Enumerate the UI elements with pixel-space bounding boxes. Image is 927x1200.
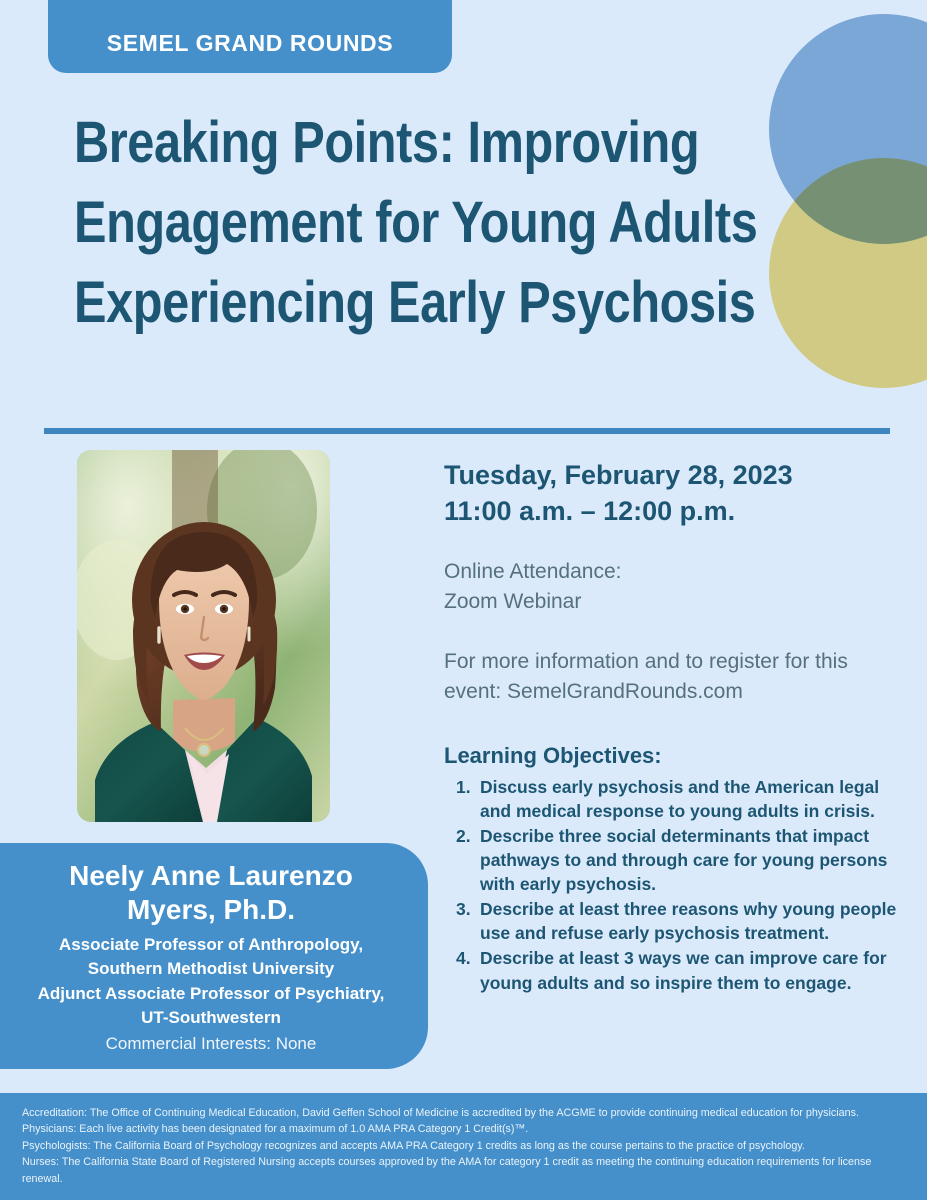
attendance-block: Online Attendance: Zoom Webinar (444, 557, 899, 617)
footer-accreditation: Accreditation: The Office of Continuing … (22, 1105, 874, 1121)
accreditation-footer: Accreditation: The Office of Continuing … (0, 1093, 927, 1200)
attendance-value: Zoom Webinar (444, 587, 899, 617)
speaker-photo (77, 450, 330, 822)
list-item: 2. Describe three social determinants th… (456, 824, 899, 896)
speaker-info-card: Neely Anne Laurenzo Myers, Ph.D. Associa… (0, 843, 428, 1069)
objective-number: 3. (456, 897, 480, 945)
registration-block: For more information and to register for… (444, 647, 899, 707)
event-flyer: SEMEL GRAND ROUNDS Breaking Points: Impr… (0, 0, 927, 1200)
objective-text: Discuss early psychosis and the American… (480, 775, 899, 823)
objective-number: 4. (456, 946, 480, 994)
event-date-block: Tuesday, February 28, 2023 11:00 a.m. – … (444, 458, 899, 529)
objective-number: 1. (456, 775, 480, 823)
footer-psychologists: Psychologists: The California Board of P… (22, 1138, 874, 1154)
footer-nurses: Nurses: The California State Board of Re… (22, 1154, 874, 1187)
objective-text: Describe at least 3 ways we can improve … (480, 946, 899, 994)
list-item: 1. Discuss early psychosis and the Ameri… (456, 775, 899, 823)
event-details: Tuesday, February 28, 2023 11:00 a.m. – … (444, 458, 899, 996)
event-date: Tuesday, February 28, 2023 (444, 458, 899, 494)
series-banner-label: SEMEL GRAND ROUNDS (107, 30, 393, 57)
speaker-affiliation-line-1: Associate Professor of Anthropology, (18, 933, 404, 957)
speaker-affiliation-line-2: Southern Methodist University (18, 957, 404, 981)
learning-objectives-heading: Learning Objectives: (444, 743, 899, 769)
objective-number: 2. (456, 824, 480, 896)
objective-text: Describe at least three reasons why youn… (480, 897, 899, 945)
registration-line-2[interactable]: event: SemelGrandRounds.com (444, 677, 899, 707)
list-item: 3. Describe at least three reasons why y… (456, 897, 899, 945)
series-banner: SEMEL GRAND ROUNDS (48, 0, 452, 73)
event-time: 11:00 a.m. – 12:00 p.m. (444, 494, 899, 530)
footer-physicians: Physicians: Each live activity has been … (22, 1121, 874, 1137)
title-line-2: Engagement for Young Adults (74, 183, 645, 263)
registration-line-1: For more information and to register for… (444, 647, 899, 677)
speaker-affiliation-line-4: UT-Southwestern (18, 1006, 404, 1030)
title-line-1: Breaking Points: Improving (74, 103, 645, 183)
objective-text: Describe three social determinants that … (480, 824, 899, 896)
title-line-3: Experiencing Early Psychosis (74, 263, 645, 343)
speaker-name: Neely Anne Laurenzo Myers, Ph.D. (18, 859, 404, 927)
attendance-label: Online Attendance: (444, 557, 899, 587)
section-divider (44, 428, 890, 434)
learning-objectives-list: 1. Discuss early psychosis and the Ameri… (444, 775, 899, 995)
page-title: Breaking Points: Improving Engagement fo… (74, 103, 754, 343)
speaker-headshot-image (77, 450, 330, 822)
list-item: 4. Describe at least 3 ways we can impro… (456, 946, 899, 994)
speaker-name-line-1: Neely Anne Laurenzo (18, 859, 404, 893)
speaker-name-line-2: Myers, Ph.D. (18, 893, 404, 927)
speaker-affiliation-line-3: Adjunct Associate Professor of Psychiatr… (18, 982, 404, 1006)
commercial-interests: Commercial Interests: None (18, 1032, 404, 1057)
